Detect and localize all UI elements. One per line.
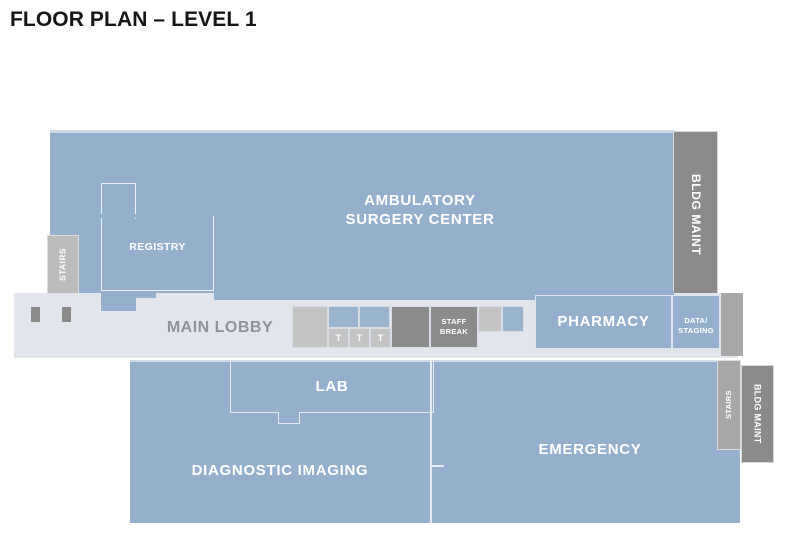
- asc-top-edge: [50, 130, 674, 133]
- emergency-divider: [430, 360, 432, 467]
- lobby-column-2: [62, 307, 71, 322]
- pharmacy-room[interactable]: [535, 295, 672, 349]
- toilet-3-room[interactable]: [370, 328, 391, 348]
- asc-stub-mid: [136, 291, 156, 298]
- emergency-divider-jog: [430, 465, 444, 467]
- lobby-column-1: [31, 307, 40, 322]
- stairs-west-room[interactable]: [47, 235, 79, 295]
- asc-stub-west: [101, 291, 136, 311]
- staff-break-room[interactable]: [430, 306, 478, 348]
- support-room-blue-3[interactable]: [502, 306, 524, 332]
- lab-notch-step: [278, 412, 300, 424]
- bldg-maint-east-room[interactable]: [741, 365, 774, 463]
- floor-plan-canvas: AMBULATORY SURGERY CENTER BLDG MAINT REG…: [0, 0, 797, 539]
- support-room-a[interactable]: [292, 306, 328, 348]
- stairs-east-room[interactable]: [717, 360, 741, 450]
- asc-stub-east: [214, 291, 292, 300]
- support-room-blue-2[interactable]: [359, 306, 390, 328]
- toilet-1-room[interactable]: [328, 328, 349, 348]
- support-room-b[interactable]: [391, 306, 430, 348]
- bldg-maint-north-room[interactable]: [673, 131, 718, 295]
- emergency-divider-lower: [430, 465, 432, 523]
- toilet-2-room[interactable]: [349, 328, 370, 348]
- support-room-c[interactable]: [478, 306, 502, 332]
- registry-room-step: [101, 214, 137, 218]
- south-wing-top-edge: [130, 360, 740, 362]
- south-wing-slab: [130, 360, 740, 523]
- registry-room-lower[interactable]: [101, 216, 214, 291]
- support-room-blue-1[interactable]: [328, 306, 359, 328]
- data-staging-room[interactable]: [672, 295, 720, 349]
- service-plug-east: [721, 293, 743, 356]
- lab-room[interactable]: [230, 361, 434, 413]
